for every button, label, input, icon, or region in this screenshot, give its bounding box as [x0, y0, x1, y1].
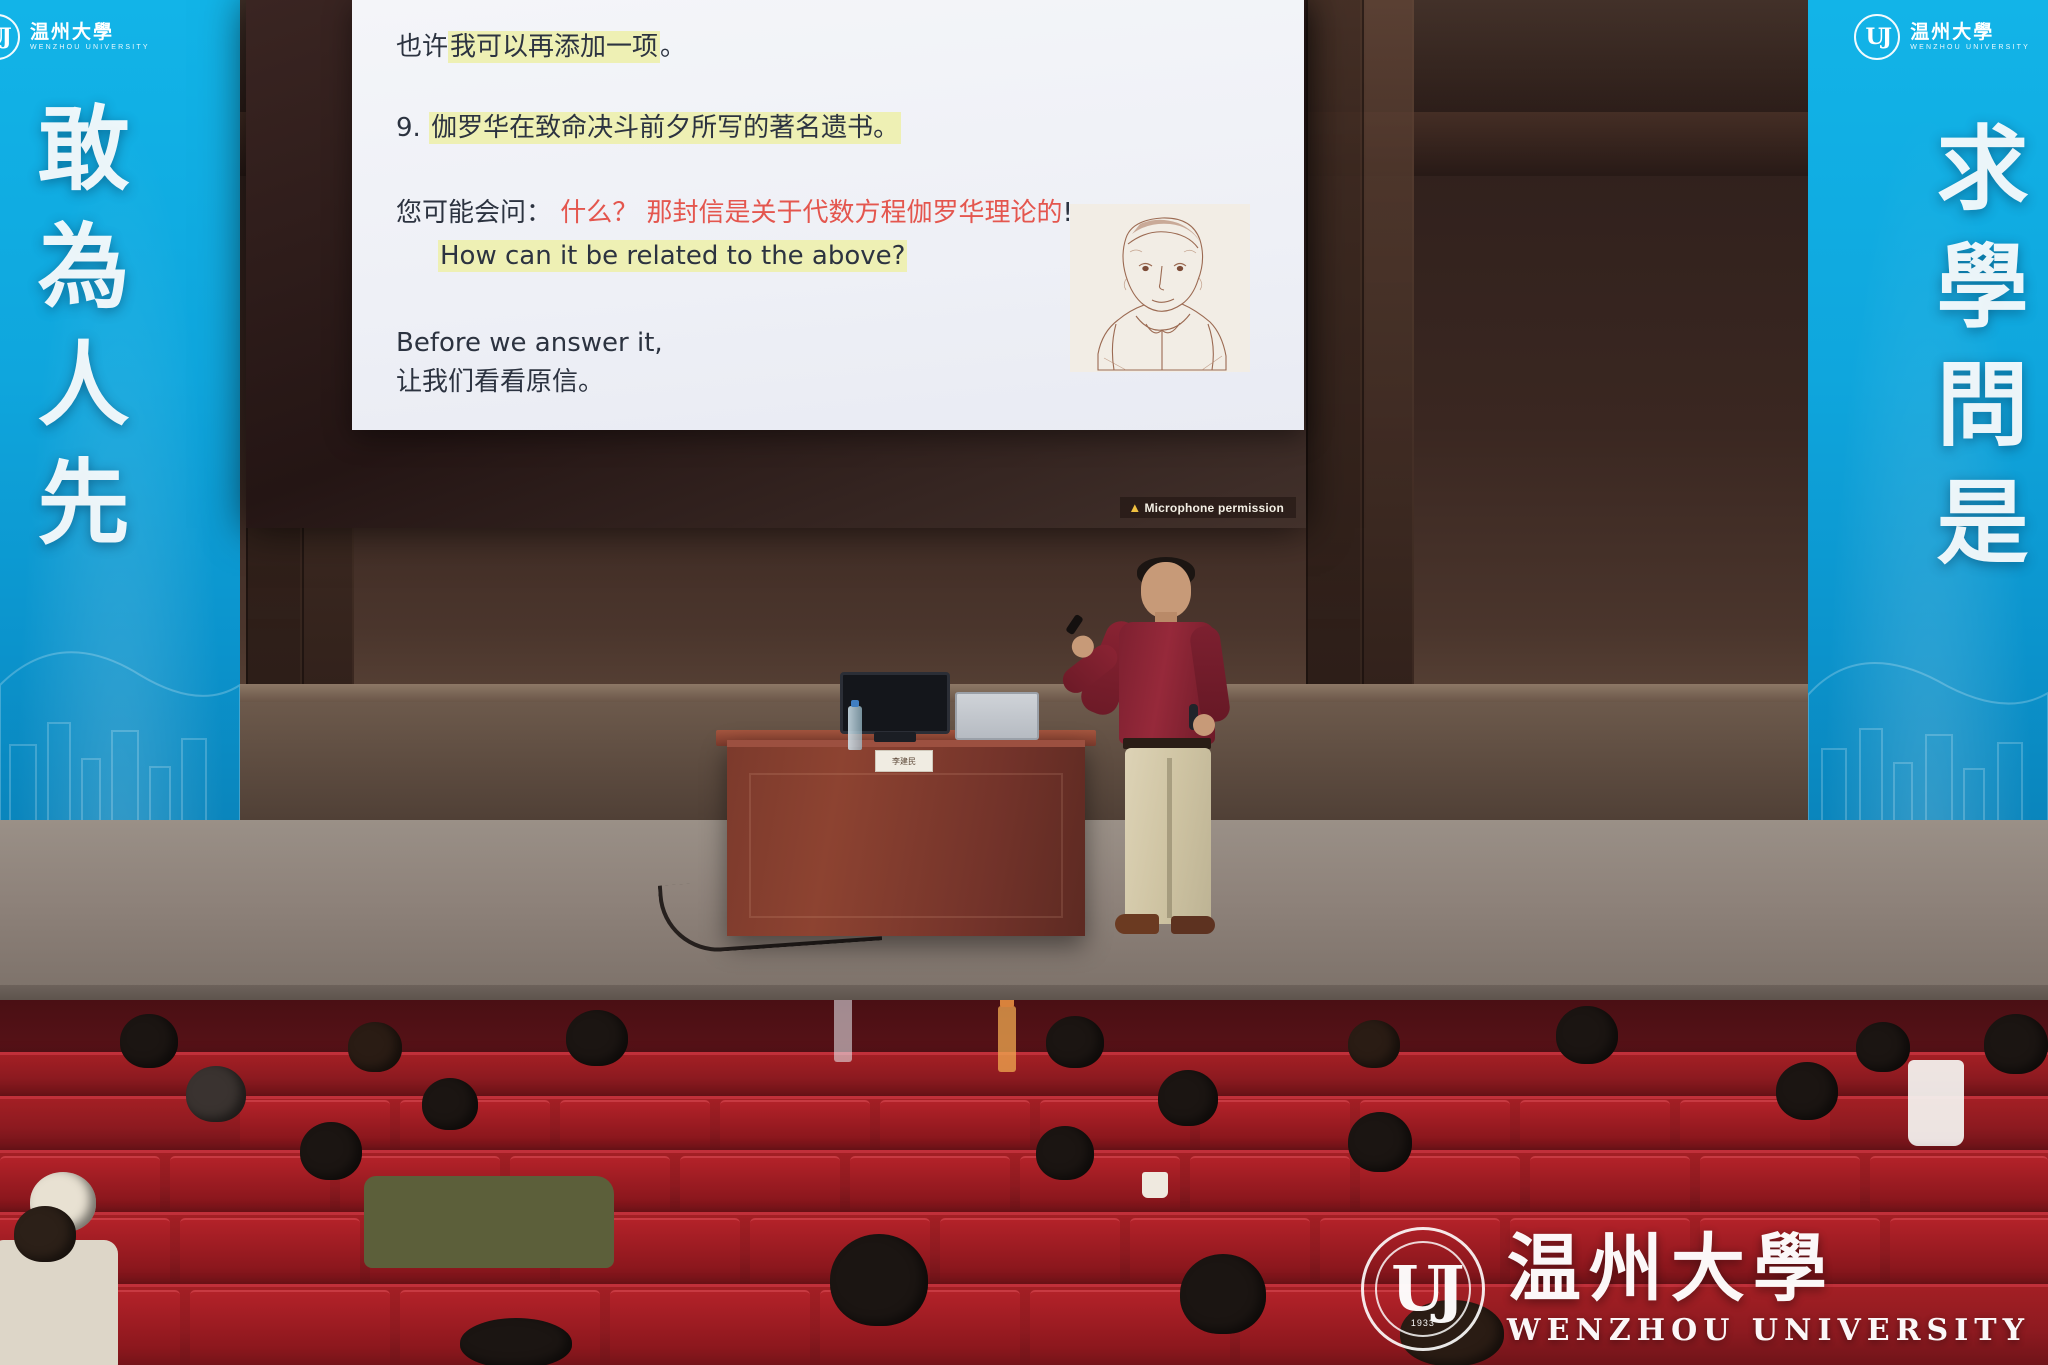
warning-triangle-icon: ▲	[1128, 500, 1141, 515]
microphone-permission-badge: ▲ Microphone permission	[1120, 497, 1296, 518]
projection-screen: 也许我可以再添加一项。 9. 伽罗华在致命决斗前夕所写的著名遗书。 您可能会问：…	[246, 0, 1306, 528]
led-wall-left: UJ 温州大學 WENZHOU UNIVERSITY 敢為人先	[0, 0, 240, 835]
audience-head	[348, 1022, 402, 1072]
water-bottle	[834, 1000, 852, 1062]
audience-head	[1180, 1254, 1266, 1334]
audience-head	[1158, 1070, 1218, 1126]
podium-nameplate: 李建民	[875, 750, 933, 772]
presentation-slide: 也许我可以再添加一项。 9. 伽罗华在致命决斗前夕所写的著名遗书。 您可能会问：…	[352, 0, 1304, 430]
slide-text-plain: 您可能会问：	[396, 198, 552, 228]
seat	[1520, 1100, 1670, 1152]
orange-drink-bottle	[998, 1006, 1016, 1072]
seat-row	[0, 1052, 2048, 1096]
seat	[850, 1156, 1010, 1216]
seat	[680, 1156, 840, 1216]
wenzhou-seal-icon: UJ	[0, 14, 20, 60]
slide-text-plain: 。	[660, 32, 686, 62]
seat	[1200, 1100, 1350, 1152]
led-logo-left-en: WENZHOU UNIVERSITY	[30, 44, 150, 52]
slide-text-plain: 让我们看看原信。	[396, 367, 604, 397]
audience-head	[186, 1066, 246, 1122]
audience-head	[1348, 1112, 1412, 1172]
presenter-left-hand	[1193, 714, 1215, 736]
presenter-right-shoe	[1171, 916, 1215, 934]
slide-text-red: 什么？ 那封信是关于代数方程伽罗华理论的	[552, 198, 1063, 228]
led-calligraphy-right: 求學問是	[1909, 120, 2042, 592]
slide-text-plain: Before we answer it,	[396, 328, 663, 358]
slide-line-1: 也许我可以再添加一项。	[396, 30, 1264, 65]
audience-head	[14, 1206, 76, 1262]
audience-head	[566, 1010, 628, 1066]
podium-monitor-stand	[874, 732, 916, 742]
skyline-graphic	[0, 535, 240, 835]
slide-text-highlight: 我可以再添加一项	[448, 31, 660, 63]
seal-monogram: UJ	[1391, 1258, 1454, 1320]
audience-head	[1776, 1062, 1838, 1120]
seat	[720, 1100, 870, 1152]
lecture-hall-photo: UJ 温州大學 WENZHOU UNIVERSITY 敢為人先 UJ 温州大學 …	[0, 0, 2048, 1365]
led-logo-right-cn: 温州大學	[1910, 22, 2030, 44]
watermark-cn-name: 温州大學	[1507, 1232, 2030, 1306]
podium-water-bottle	[848, 706, 862, 750]
seat	[1870, 1156, 2048, 1216]
led-logo-left: UJ 温州大學 WENZHOU UNIVERSITY	[0, 14, 150, 60]
seat	[1700, 1156, 1860, 1216]
audience-head	[1856, 1022, 1910, 1072]
watermark-en-name: WENZHOU UNIVERSITY	[1507, 1316, 2030, 1346]
presenter	[1085, 562, 1245, 952]
led-logo-right-en: WENZHOU UNIVERSITY	[1910, 44, 2030, 52]
audience-head	[120, 1014, 178, 1068]
audience-head	[1348, 1020, 1400, 1068]
seat	[1530, 1156, 1690, 1216]
seat	[610, 1290, 810, 1365]
audience-head	[1984, 1014, 2048, 1074]
led-calligraphy-left: 敢為人先	[10, 100, 143, 572]
led-logo-left-cn: 温州大學	[30, 22, 150, 44]
microphone-permission-label: Microphone permission	[1144, 501, 1284, 515]
podium-laptop	[955, 692, 1039, 740]
galois-portrait-image	[1070, 204, 1250, 372]
white-tote-bag	[1908, 1060, 1964, 1146]
slide-text-highlight: How can it be related to the above?	[438, 240, 907, 272]
seat	[180, 1218, 360, 1288]
university-seal-icon: UJ 1933	[1361, 1227, 1485, 1351]
wenzhou-seal-icon: UJ	[1854, 14, 1900, 60]
audience-head	[422, 1078, 478, 1130]
podium-front-panel	[749, 773, 1063, 918]
wenzhou-university-watermark: UJ 1933 温州大學 WENZHOU UNIVERSITY	[1361, 1227, 2030, 1351]
presenter-head	[1141, 562, 1191, 618]
bottle-cap-icon	[1000, 1000, 1014, 1007]
led-wall-right: UJ 温州大學 WENZHOU UNIVERSITY 求學問是	[1808, 0, 2048, 835]
presenter-trouser-crease	[1167, 758, 1172, 918]
audience-head	[1556, 1006, 1618, 1064]
seat	[880, 1100, 1030, 1152]
led-logo-right: UJ 温州大學 WENZHOU UNIVERSITY	[1854, 14, 2030, 60]
seat	[560, 1100, 710, 1152]
slide-line-2: 9. 伽罗华在致命决斗前夕所写的著名遗书。	[396, 111, 1264, 146]
galois-sketch	[1070, 204, 1250, 372]
slide-text-highlight: 伽罗华在致命决斗前夕所写的著名遗书。	[429, 112, 901, 144]
seat	[1190, 1156, 1350, 1216]
olive-backpack	[364, 1176, 614, 1268]
audience-head	[830, 1234, 928, 1326]
slide-text-plain: 也许	[396, 32, 448, 62]
seal-year: 1933	[1364, 1318, 1482, 1328]
seat	[940, 1218, 1120, 1288]
slide-item-number: 9.	[396, 113, 429, 143]
audience-head	[300, 1122, 362, 1180]
audience-head	[460, 1318, 572, 1365]
paper-cup	[1142, 1172, 1168, 1198]
presenter-left-shoe	[1115, 914, 1159, 934]
audience-head	[1046, 1016, 1104, 1068]
seat	[190, 1290, 390, 1365]
audience-head	[1036, 1126, 1094, 1180]
